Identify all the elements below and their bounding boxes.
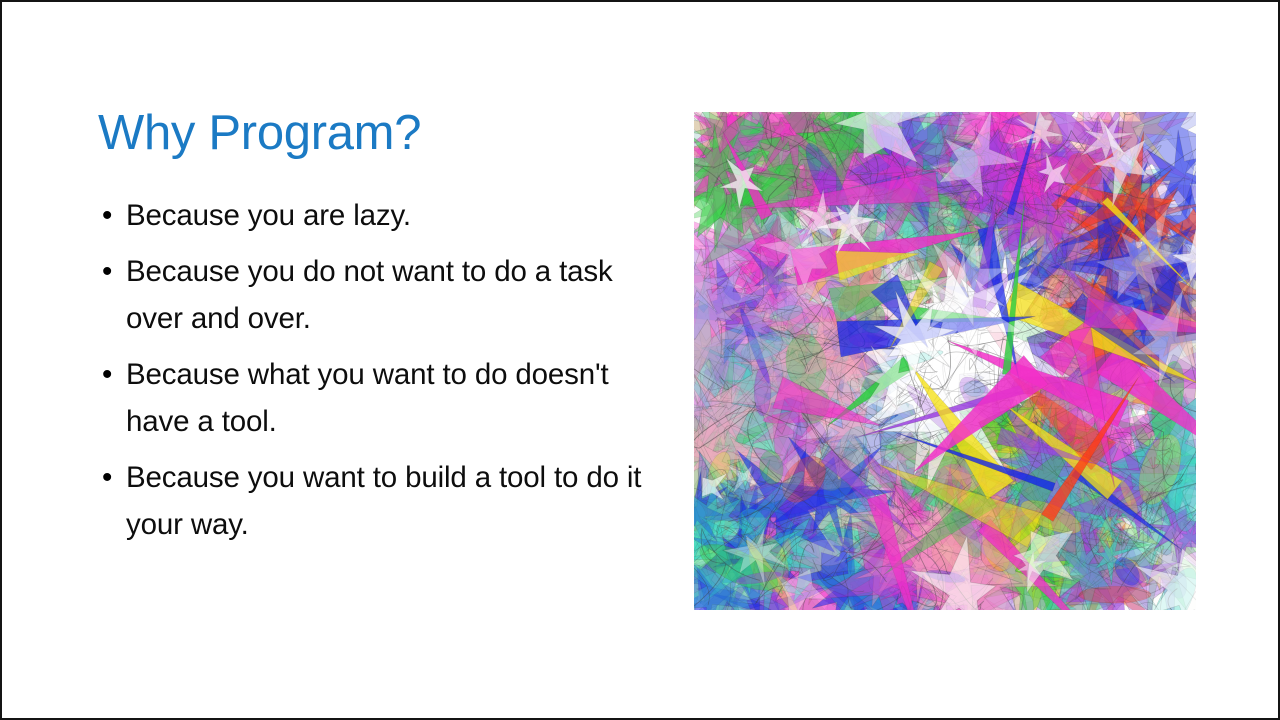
bullet-icon: • bbox=[102, 454, 130, 501]
slide-canvas: Why Program? • Because you are lazy. • B… bbox=[0, 0, 1280, 720]
list-item: • Because you do not want to do a task o… bbox=[98, 248, 658, 342]
list-item: • Because you want to build a tool to do… bbox=[98, 454, 658, 548]
bullet-icon: • bbox=[102, 351, 130, 398]
list-item: • Because you are lazy. bbox=[98, 192, 658, 239]
page-title: Why Program? bbox=[98, 107, 658, 160]
list-item-label: Because you do not want to do a task ove… bbox=[126, 255, 613, 335]
list-item-label: Because what you want to do doesn't have… bbox=[126, 358, 609, 438]
list-item-label: Because you are lazy. bbox=[126, 199, 411, 232]
bullet-icon: • bbox=[102, 192, 130, 239]
bullet-list: • Because you are lazy. • Because you do… bbox=[98, 192, 658, 548]
abstract-art-image bbox=[694, 112, 1196, 610]
list-item: • Because what you want to do doesn't ha… bbox=[98, 351, 658, 445]
list-item-label: Because you want to build a tool to do i… bbox=[126, 461, 641, 541]
bullet-icon: • bbox=[102, 248, 130, 295]
abstract-art-canvas bbox=[694, 112, 1196, 610]
